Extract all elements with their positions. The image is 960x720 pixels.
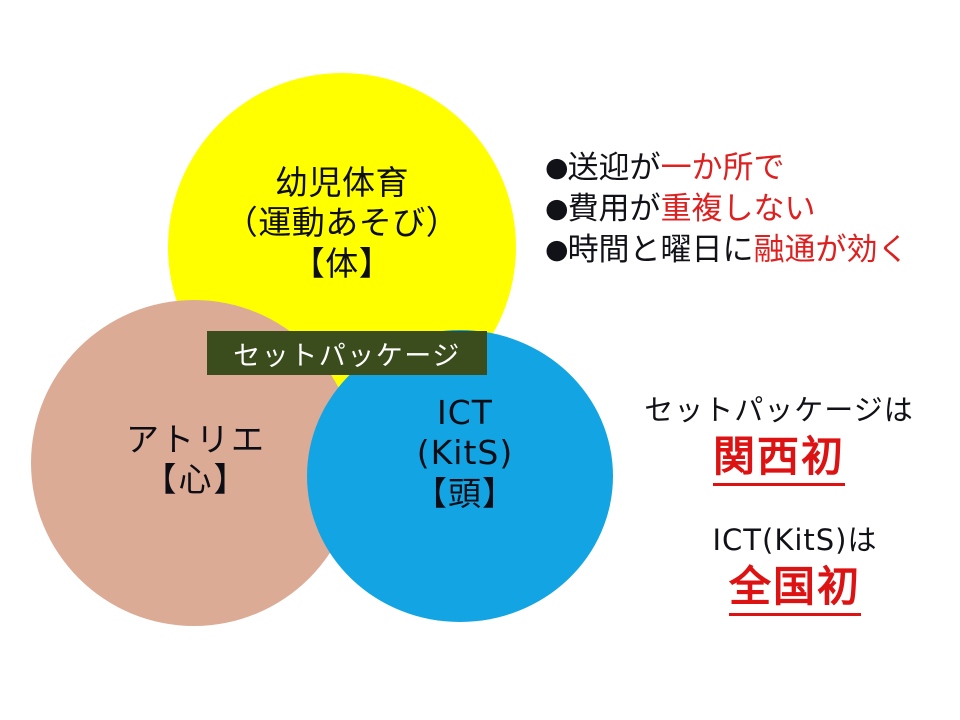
- venn-label-brown: アトリエ 【心】: [61, 420, 331, 501]
- bullet-item-2-highlight: 重複しない: [661, 191, 816, 227]
- bullet-item-2: ●費用が重複しない: [545, 189, 909, 230]
- claim-zenkoku-first: ICT(KitS)は 全国初: [645, 525, 945, 616]
- bullet-item-1-highlight: 一か所で: [661, 150, 785, 186]
- set-package-badge-label: セットパッケージ: [233, 334, 460, 373]
- bullet-dot-icon: ●: [545, 152, 568, 183]
- bullet-item-3-highlight: 融通が効く: [754, 232, 909, 268]
- claim-zenkoku-lead: ICT(KitS)は: [645, 525, 945, 557]
- bullet-item-2-text: 費用が: [568, 191, 661, 227]
- claim-kansai-strong: 関西初: [713, 433, 845, 486]
- venn-label-brown-line-1: アトリエ: [61, 420, 331, 460]
- venn-label-blue-line-2: (KitS): [360, 433, 570, 473]
- benefits-bullet-list: ●送迎が一か所で ●費用が重複しない ●時間と曜日に融通が効く: [545, 148, 909, 272]
- slide-canvas: 幼児体育 （運動あそび） 【体】 アトリエ 【心】 ICT (KitS) 【頭】…: [0, 0, 960, 720]
- bullet-item-3: ●時間と曜日に融通が効く: [545, 230, 909, 271]
- venn-label-blue-line-3: 【頭】: [360, 474, 570, 514]
- claim-kansai-first: セットパッケージは 関西初: [613, 395, 945, 486]
- venn-label-blue-line-1: ICT: [360, 393, 570, 433]
- venn-label-brown-line-2: 【心】: [61, 460, 331, 500]
- bullet-item-1-text: 送迎が: [568, 150, 661, 186]
- claim-zenkoku-strong: 全国初: [729, 563, 861, 616]
- bullet-dot-icon: ●: [545, 234, 568, 265]
- venn-label-blue: ICT (KitS) 【頭】: [360, 393, 570, 514]
- venn-label-yellow-line-2: （運動あそび）: [168, 203, 516, 243]
- bullet-dot-icon: ●: [545, 193, 568, 224]
- set-package-badge: セットパッケージ: [207, 331, 487, 375]
- claim-kansai-lead: セットパッケージは: [613, 395, 945, 427]
- venn-label-yellow-line-1: 幼児体育: [168, 163, 516, 203]
- venn-label-yellow-line-3: 【体】: [168, 244, 516, 284]
- bullet-item-3-text: 時間と曜日に: [568, 232, 754, 268]
- bullet-item-1: ●送迎が一か所で: [545, 148, 909, 189]
- venn-label-yellow: 幼児体育 （運動あそび） 【体】: [168, 163, 516, 284]
